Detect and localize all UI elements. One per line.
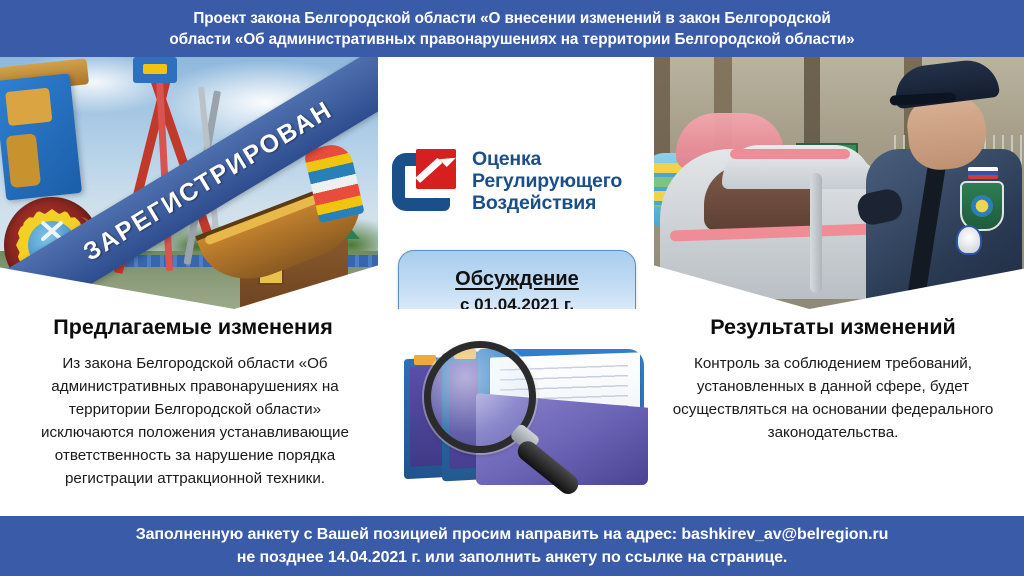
orv-logo-mark-icon: [392, 149, 464, 215]
footer-line1: Заполненную анкету с Вашей позицией прос…: [136, 523, 889, 546]
orv-c-bottom: [422, 198, 450, 211]
orv-logo-line3: Воздействия: [472, 193, 622, 215]
ride-car-body: [660, 149, 888, 299]
folders-magnifier-illustration: [398, 337, 648, 507]
right-column-heading: Результаты изменений: [660, 315, 1006, 340]
header-bar: Проект закона Белгородской области «О вн…: [0, 0, 1024, 57]
ride-top-flag: [133, 57, 177, 83]
uniform-patch-icon: [960, 181, 1004, 231]
right-column-text: Контроль за соблюдением требований, уста…: [660, 352, 1006, 444]
footer-bar: Заполненную анкету с Вашей позицией прос…: [0, 516, 1024, 576]
inspector-figure: [860, 75, 1020, 309]
ride-car-stripe: [670, 223, 876, 241]
discussion-title: Обсуждение: [455, 268, 579, 291]
orv-logo: Оценка Регулирующего Воздействия: [392, 142, 642, 222]
slide-root: Проект закона Белгородской области «О вн…: [0, 0, 1024, 576]
photo-row: ЗАРЕГИСТРИРОВАН SAFETY.RU Оценка Регулир…: [0, 57, 1024, 309]
header-title: Проект закона Белгородской области «О вн…: [169, 9, 854, 50]
photo-inspector: belnovosti.ru: [654, 57, 1024, 309]
left-column-heading: Предлагаемые изменения: [28, 315, 358, 340]
uniform-badge-icon: [956, 225, 982, 255]
orv-logo-text: Оценка Регулирующего Воздействия: [472, 149, 622, 214]
footer-line2: не позднее 14.04.2021 г. или заполнить а…: [136, 546, 889, 569]
footer-instructions: Заполненную анкету с Вашей позицией прос…: [136, 523, 889, 569]
header-title-line2: области «Об административных правонаруше…: [169, 30, 854, 51]
ride-car-canopy: [722, 145, 872, 189]
russian-flag-icon: [968, 167, 998, 179]
arrow-up-right-icon: [416, 149, 456, 189]
magnifier-handle: [514, 437, 583, 498]
left-column-text: Из закона Белгородской области «Об админ…: [30, 352, 360, 491]
park-side-banner: [0, 73, 82, 200]
body-content: Предлагаемые изменения Из закона Белгоро…: [0, 309, 1024, 516]
magnifier-icon: [424, 341, 574, 491]
orv-logo-line2: Регулирующего: [472, 171, 622, 193]
photo-amusement-ride: ЗАРЕГИСТРИРОВАН SAFETY.RU: [0, 57, 378, 309]
orv-logo-line1: Оценка: [472, 149, 622, 171]
ride-car-post: [810, 173, 822, 293]
header-title-line1: Проект закона Белгородской области «О вн…: [169, 9, 854, 30]
